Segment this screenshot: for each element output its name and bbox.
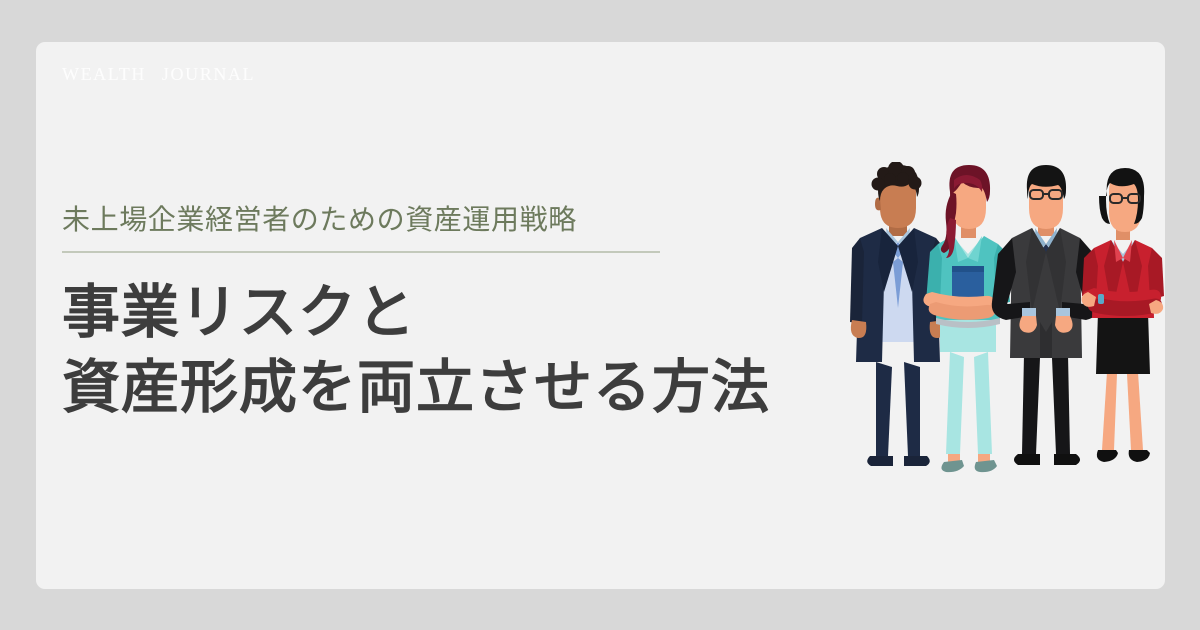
person-4-businesswoman-red — [1082, 168, 1164, 462]
brand-word-journal: Journal — [162, 59, 255, 86]
four-business-people-illustration — [826, 162, 1165, 482]
screenshot-canvas: WealthJournal 未上場企業経営者のための資産運用戦略 事業リスクと … — [0, 0, 1200, 630]
article-text-block: 未上場企業経営者のための資産運用戦略 事業リスクと 資産形成を両立させる方法 — [62, 202, 702, 426]
article-hero-card: WealthJournal 未上場企業経営者のための資産運用戦略 事業リスクと … — [36, 42, 1165, 589]
brand-word-wealth: Wealth — [62, 59, 146, 86]
person-1-businessman-navy — [850, 162, 946, 466]
title-divider — [62, 251, 660, 253]
headline-line-2: 資産形成を両立させる方法 — [62, 350, 702, 425]
article-subtitle: 未上場企業経営者のための資産運用戦略 — [62, 202, 702, 237]
person-2-businesswoman-teal — [923, 165, 1010, 472]
article-headline: 事業リスクと 資産形成を両立させる方法 — [62, 275, 702, 426]
headline-line-1: 事業リスクと — [62, 275, 702, 350]
person-3-businessman-charcoal — [992, 165, 1100, 465]
brand-logo[interactable]: WealthJournal — [62, 60, 255, 85]
